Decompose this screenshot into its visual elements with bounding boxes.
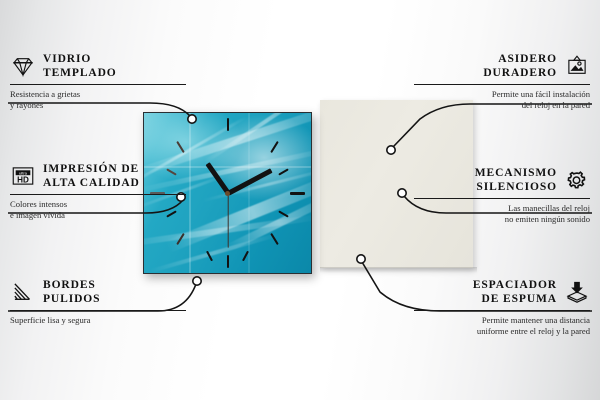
- hour-tick: [290, 192, 305, 195]
- glass-grid-line: [248, 113, 250, 273]
- feature-divider: [414, 84, 590, 85]
- diamond-icon: [10, 54, 36, 78]
- feature-description: Las manecillas del reloj no emiten ningú…: [414, 203, 590, 225]
- feature-bordes-pulidos: BORDES PULIDOS Superficie lisa y segura: [10, 278, 186, 326]
- connector-dot: [193, 277, 201, 285]
- glass-grid-line: [189, 113, 191, 273]
- polished-edges-icon: [10, 280, 36, 304]
- feature-divider: [10, 194, 186, 195]
- feature-title: MECANISMO SILENCIOSO: [475, 166, 557, 194]
- ultra-hd-icon: ultra HD: [10, 164, 36, 188]
- clock-second-hand: [227, 193, 228, 248]
- feature-divider: [10, 84, 186, 85]
- feature-mecanismo-silencioso: MECANISMO SILENCIOSO Las manecillas del …: [414, 166, 590, 225]
- feature-description: Resistencia a grietas y rayones: [10, 89, 186, 111]
- hanging-picture-icon: [564, 54, 590, 78]
- feature-divider: [414, 310, 590, 311]
- feature-asidero-duradero: ASIDERO DURADERO Permite una fácil insta…: [414, 52, 590, 111]
- feature-divider: [414, 198, 590, 199]
- svg-text:HD: HD: [17, 176, 29, 185]
- hour-tick: [227, 255, 229, 268]
- feature-title: BORDES PULIDOS: [43, 278, 100, 306]
- feature-title: IMPRESIÓN DE ALTA CALIDAD: [43, 162, 140, 190]
- feature-description: Permite una fácil instalación del reloj …: [414, 89, 590, 111]
- svg-text:ultra: ultra: [19, 170, 28, 175]
- foam-spacer-icon: [564, 280, 590, 304]
- gear-icon: [564, 168, 590, 192]
- feature-description: Colores intensos e imagen vívida: [10, 199, 186, 221]
- clock-pivot: [225, 191, 230, 196]
- hour-tick: [227, 118, 229, 131]
- feature-title: VIDRIO TEMPLADO: [43, 52, 117, 80]
- feature-vidrio-templado: VIDRIO TEMPLADO Resistencia a grietas y …: [10, 52, 186, 111]
- feature-divider: [10, 310, 186, 311]
- infographic-stage: VIDRIO TEMPLADO Resistencia a grietas y …: [0, 0, 600, 400]
- feature-description: Permite mantener una distancia uniforme …: [414, 315, 590, 337]
- feature-title: ASIDERO DURADERO: [483, 52, 557, 80]
- feature-espaciador-espuma: ESPACIADOR DE ESPUMA Permite mantener un…: [414, 278, 590, 337]
- feature-impresion-alta-calidad: ultra HD IMPRESIÓN DE ALTA CALIDAD Color…: [10, 162, 186, 221]
- feature-title: ESPACIADOR DE ESPUMA: [473, 278, 557, 306]
- feature-description: Superficie lisa y segura: [10, 315, 186, 326]
